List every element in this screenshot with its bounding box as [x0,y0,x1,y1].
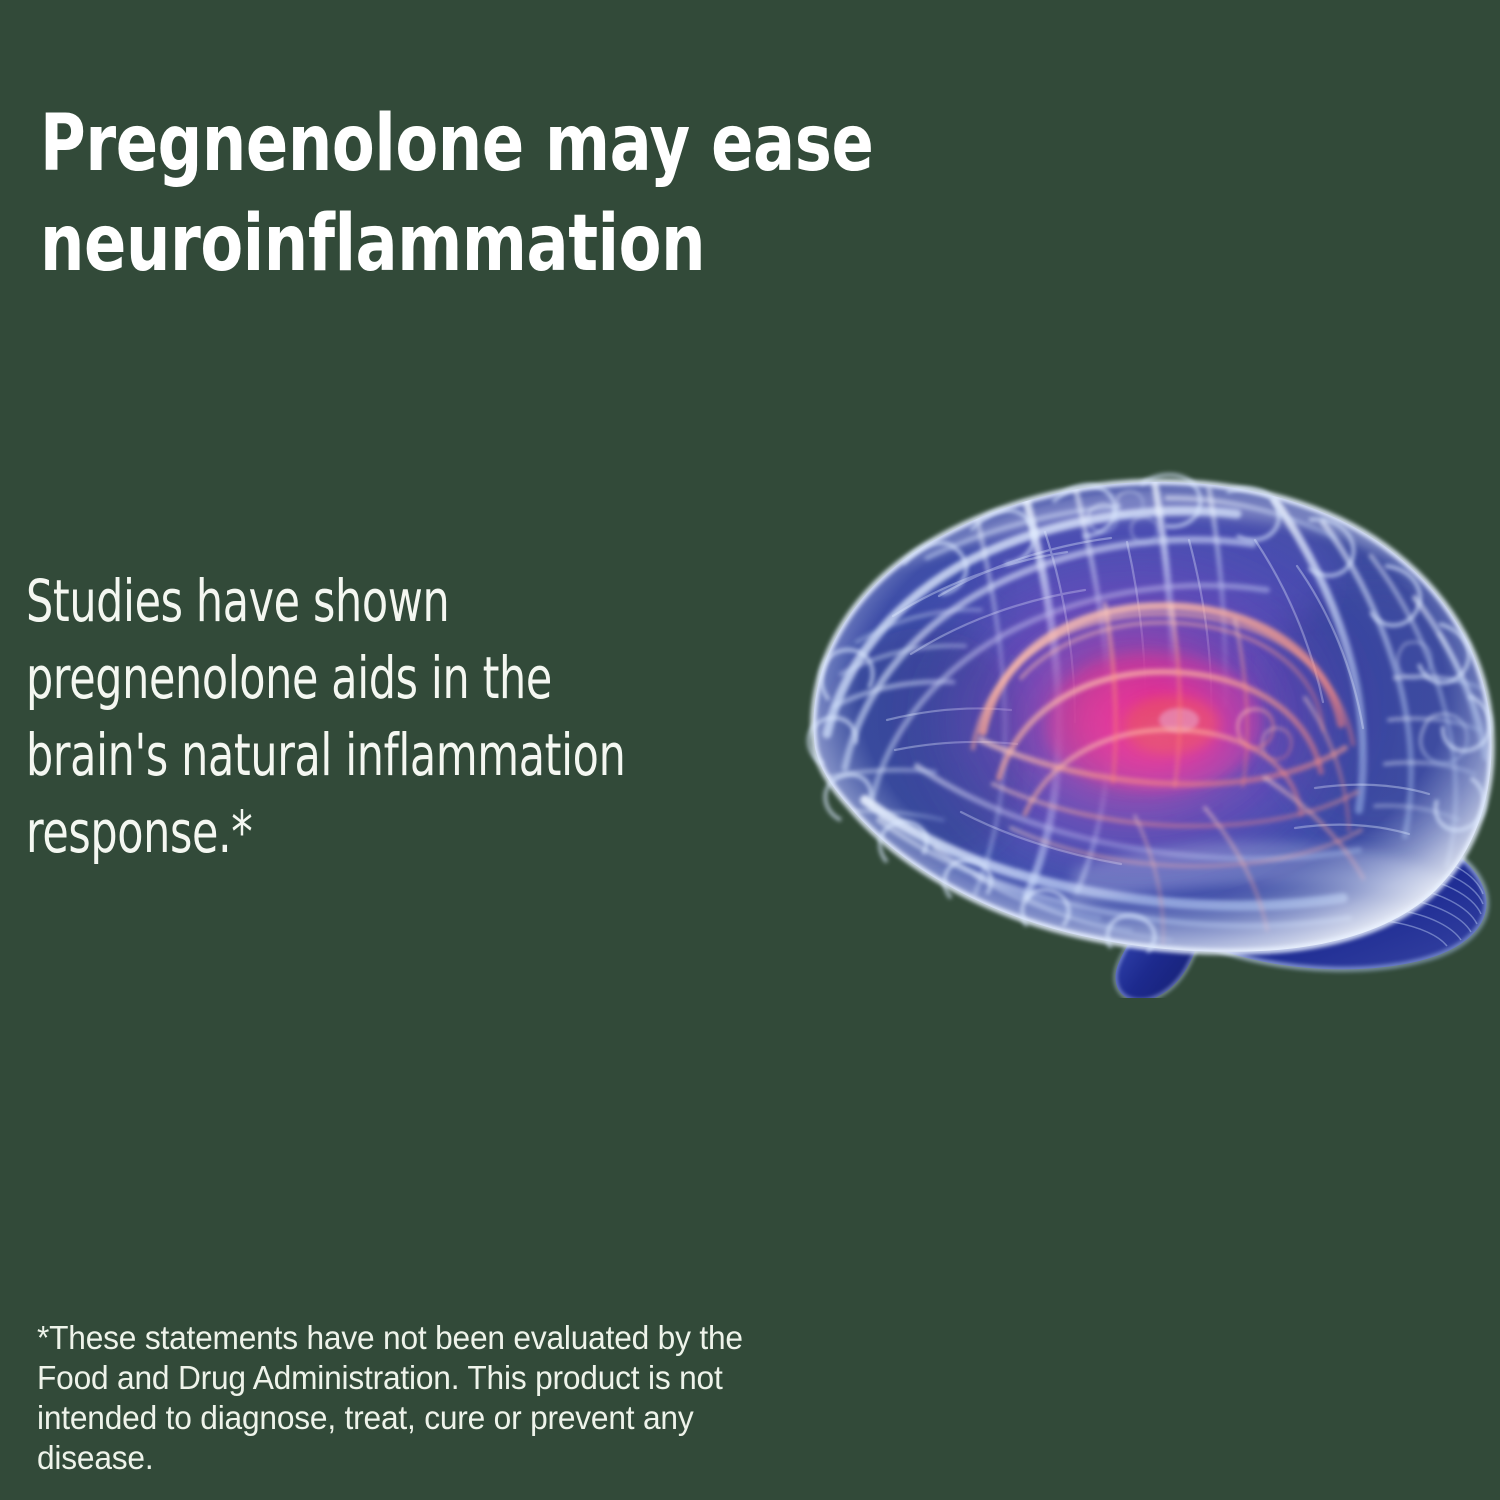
headline-line-2: neuroinflammation [40,194,920,294]
body-paragraph: Studies have shown pregnenolone aids in … [26,563,766,871]
body-line-1: Studies have shown [26,563,766,640]
fda-disclaimer: *These statements have not been evaluate… [37,1318,1141,1478]
body-line-3: brain's natural inflammation [26,717,766,794]
brain-illustration [775,448,1500,998]
disclaimer-line-3: intended to diagnose, treat, cure or pre… [37,1398,1141,1438]
disclaimer-line-4: disease. [37,1438,1141,1478]
body-line-2: pregnenolone aids in the [26,640,766,717]
infographic-canvas: Pregnenolone may ease neuroinflammation … [0,0,1500,1500]
cerebrum [809,475,1493,952]
body-line-4: response.* [26,794,766,871]
brain-icon [775,448,1500,998]
disclaimer-line-1: *These statements have not been evaluate… [37,1318,1141,1358]
disclaimer-line-2: Food and Drug Administration. This produ… [37,1358,1141,1398]
page-title: Pregnenolone may ease neuroinflammation [40,94,920,294]
headline-line-1: Pregnenolone may ease [40,94,920,194]
